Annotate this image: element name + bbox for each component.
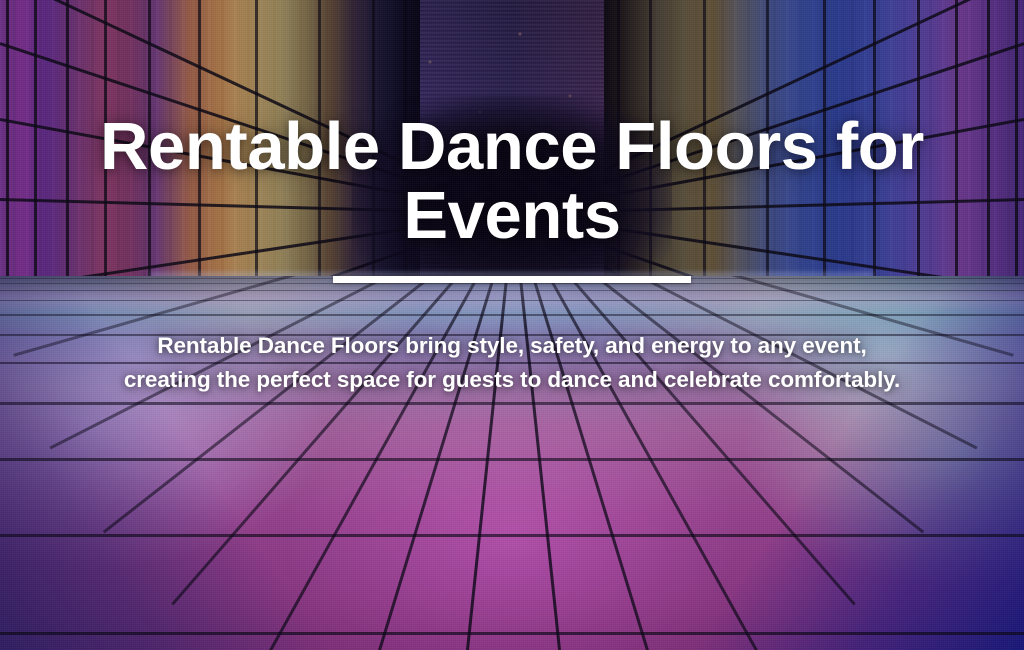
- hero-content: Rentable Dance Floors for Events Rentabl…: [0, 0, 1024, 650]
- page-title: Rentable Dance Floors for Events: [72, 112, 952, 250]
- title-divider: [333, 276, 691, 283]
- hero-subtitle: Rentable Dance Floors bring style, safet…: [117, 329, 907, 397]
- hero-banner: Rentable Dance Floors for Events Rentabl…: [0, 0, 1024, 650]
